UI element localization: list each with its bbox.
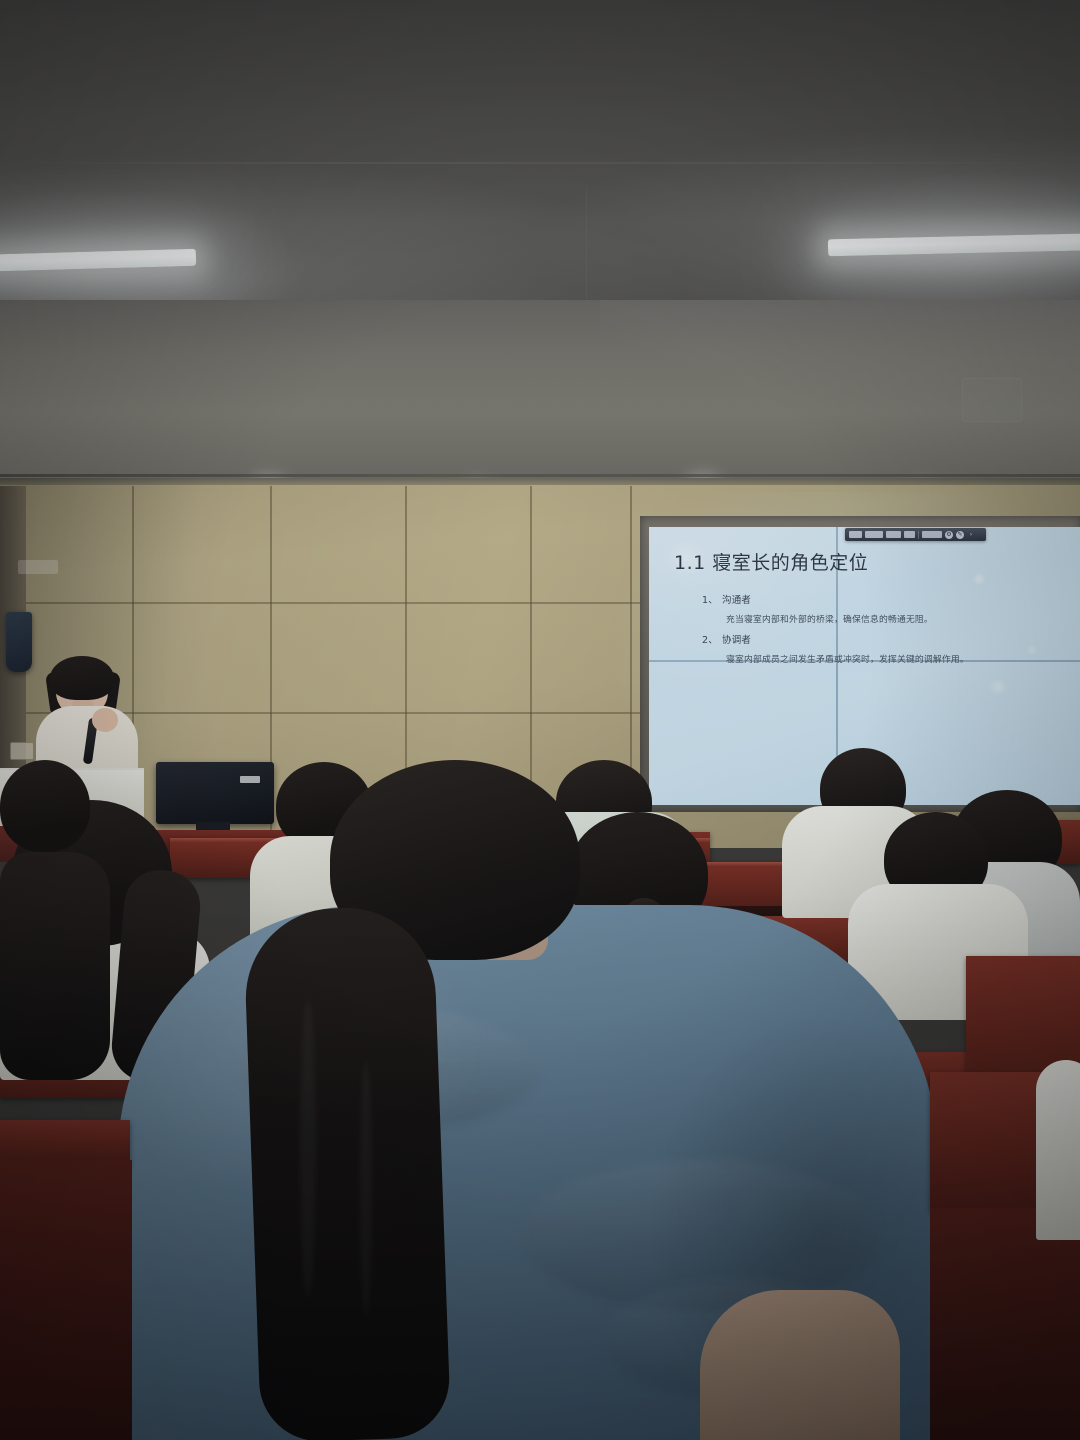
toolbar-chip[interactable]	[886, 531, 901, 538]
screen-hotspot	[971, 573, 987, 585]
bench-row-shadow	[930, 1208, 1080, 1440]
podium-monitor[interactable]	[156, 762, 274, 824]
student-far-left-hair	[0, 852, 110, 1080]
slide-item-2-detail: 寝室内部成员之间发生矛盾或冲突时，发挥关键的调解作用。	[726, 652, 969, 665]
ceiling-seam	[0, 162, 1080, 164]
presenter-hand	[92, 708, 118, 732]
screen-hotspot	[987, 679, 1009, 695]
wall-speaker-icon	[6, 612, 32, 672]
lecture-hall-photo: ⚙ ✎ › 1.1 寝室长的角色定位 1、 沟通者 充当寝室内部和外部的桥梁，确…	[0, 0, 1080, 1440]
chevron-right-icon[interactable]: ›	[967, 531, 975, 539]
ceiling-panel-joint	[586, 186, 587, 302]
screen-hotspot	[1025, 645, 1039, 655]
toolbar-chip[interactable]	[849, 531, 862, 538]
foreground-student-ponytail	[243, 905, 451, 1440]
wall-plaque	[18, 560, 58, 574]
monitor-brand-label	[240, 776, 260, 783]
hair-strand	[300, 1000, 316, 1300]
slide-item-2-number: 2、	[702, 632, 718, 646]
hair-strand	[360, 1060, 372, 1320]
slide-item-1-heading: 沟通者	[722, 592, 751, 606]
foreground-student-arm	[700, 1290, 900, 1440]
toolbar-separator	[918, 531, 919, 539]
toolbar-chip[interactable]	[922, 531, 942, 538]
ceiling-access-panel-icon	[962, 378, 1022, 422]
slide-item-1-number: 1、	[702, 592, 718, 606]
settings-icon[interactable]: ⚙	[945, 531, 953, 539]
presentation-floating-toolbar[interactable]: ⚙ ✎ ›	[845, 528, 986, 541]
student-right-edge	[1036, 1060, 1080, 1240]
toolbar-chip[interactable]	[904, 531, 915, 538]
slide-item-1-detail: 充当寝室内部和外部的桥梁，确保信息的畅通无阻。	[726, 612, 933, 625]
wall-outlet-icon	[10, 742, 34, 760]
pen-icon[interactable]: ✎	[956, 531, 964, 539]
bench-row-shadow	[0, 1160, 132, 1440]
student-left-near	[0, 760, 90, 852]
toolbar-chip[interactable]	[865, 531, 883, 538]
presenter-hair	[50, 656, 114, 700]
soffit-edge	[0, 474, 1080, 477]
slide-title: 1.1 寝室长的角色定位	[674, 548, 868, 575]
slide-item-2-heading: 协调者	[722, 632, 751, 646]
